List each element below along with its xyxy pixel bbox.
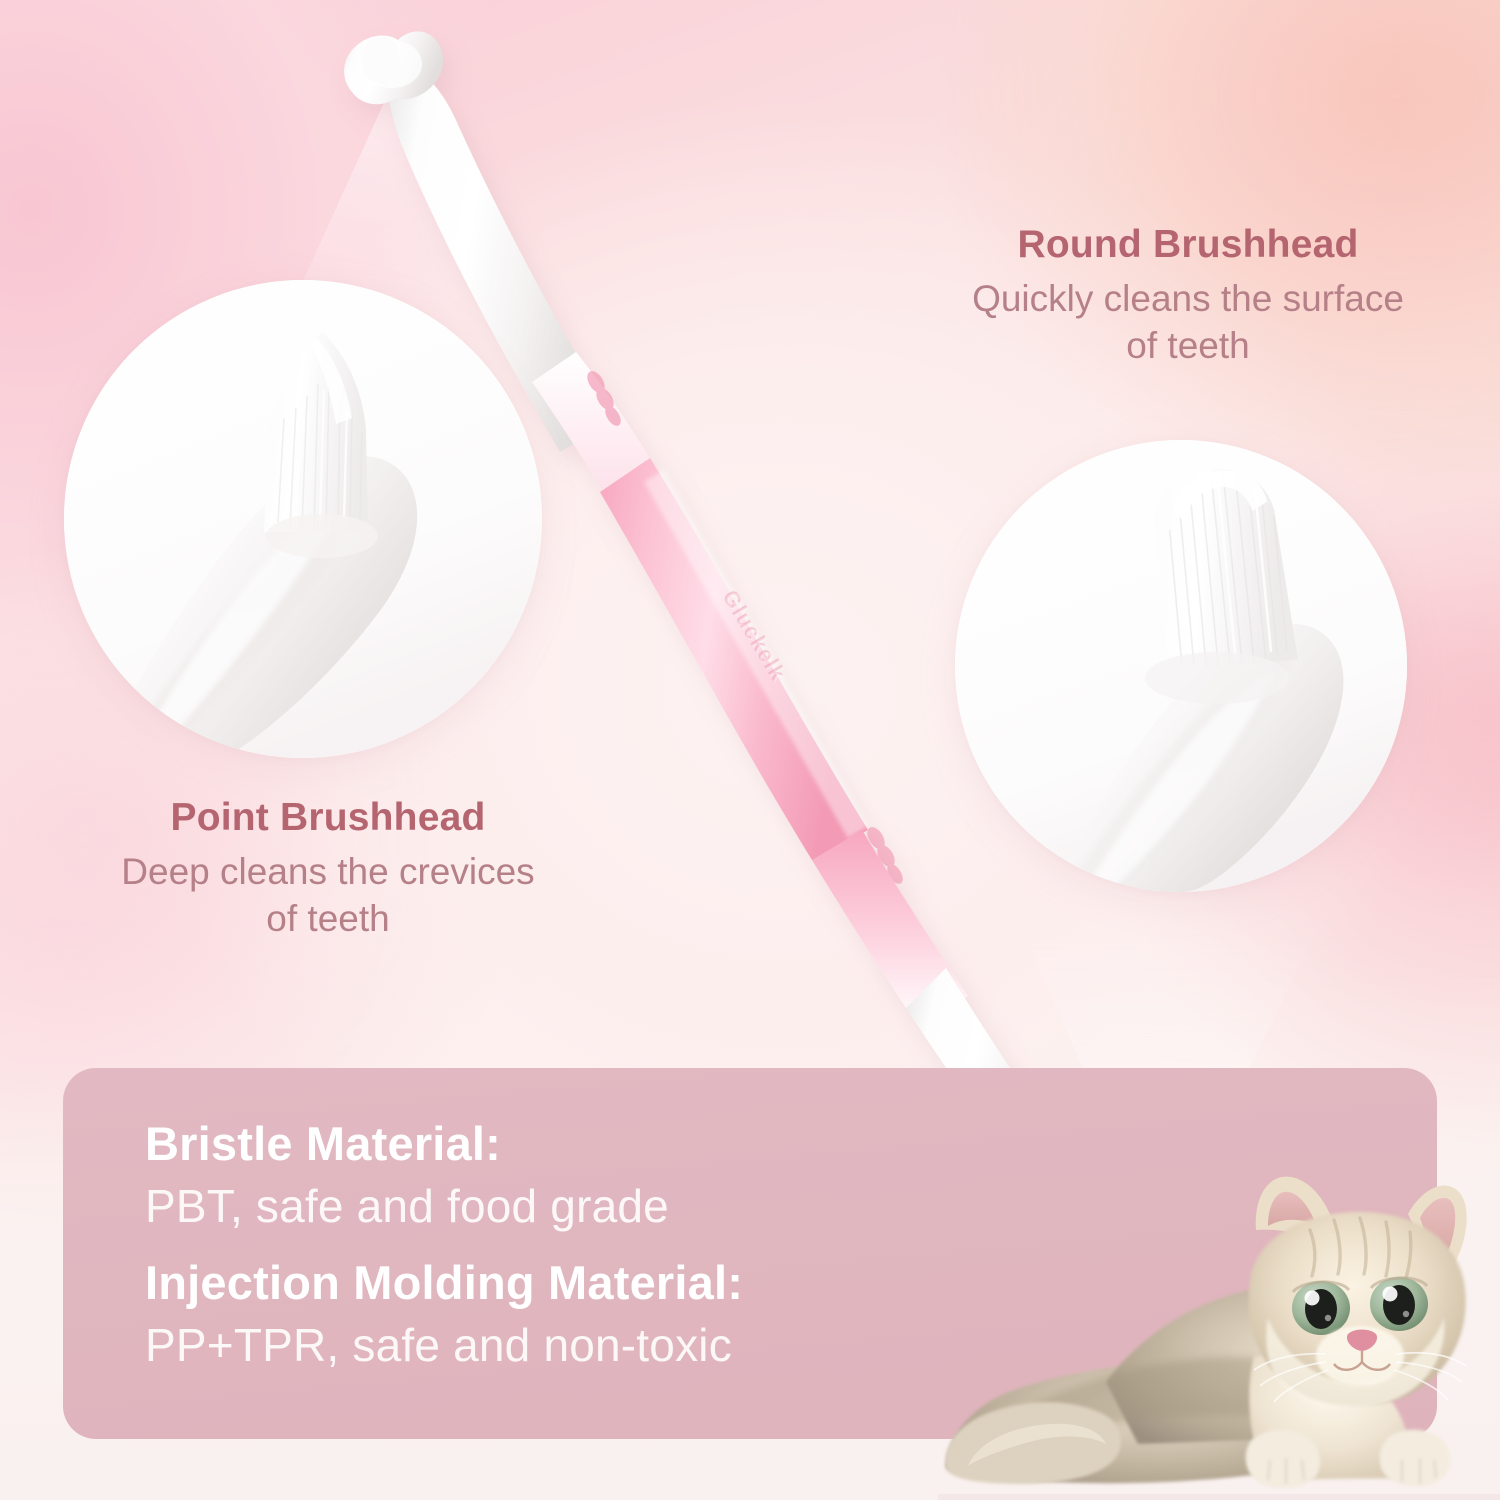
cat-image [938, 1168, 1500, 1500]
infographic-stage: Gluckelk Gluckelk [0, 0, 1500, 1500]
material-row-bristle: Bristle Material: PBT, safe and food gra… [145, 1116, 1045, 1235]
magnifier-circle-point-brushhead [64, 280, 542, 758]
point-brushhead-closeup [64, 280, 542, 758]
round-brushhead-title: Round Brushhead [868, 222, 1500, 267]
magnifier-circle-round-brushhead [955, 440, 1407, 892]
injection-material-value: PP+TPR, safe and non-toxic [145, 1318, 1045, 1373]
point-brushhead-title: Point Brushhead [18, 795, 638, 840]
feature-label-point-brushhead: Point Brushhead Deep cleans the crevices… [18, 795, 638, 942]
round-brushhead-closeup [955, 440, 1407, 892]
injection-material-heading: Injection Molding Material: [145, 1255, 1045, 1311]
point-brushhead-description-line2: of teeth [18, 896, 638, 943]
point-brushhead-description: Deep cleans the crevices of teeth [18, 849, 638, 942]
point-brushhead-description-line1: Deep cleans the crevices [18, 849, 638, 896]
materials-banner-rows: Bristle Material: PBT, safe and food gra… [145, 1116, 1045, 1373]
round-brushhead-description-line2: of teeth [868, 323, 1500, 370]
feature-label-round-brushhead: Round Brushhead Quickly cleans the surfa… [868, 222, 1500, 369]
bristle-material-value: PBT, safe and food grade [145, 1179, 1045, 1234]
material-row-injection: Injection Molding Material: PP+TPR, safe… [145, 1255, 1045, 1374]
round-brushhead-description-line1: Quickly cleans the surface [868, 276, 1500, 323]
bristle-material-heading: Bristle Material: [145, 1116, 1045, 1172]
round-brushhead-description: Quickly cleans the surface of teeth [868, 276, 1500, 369]
